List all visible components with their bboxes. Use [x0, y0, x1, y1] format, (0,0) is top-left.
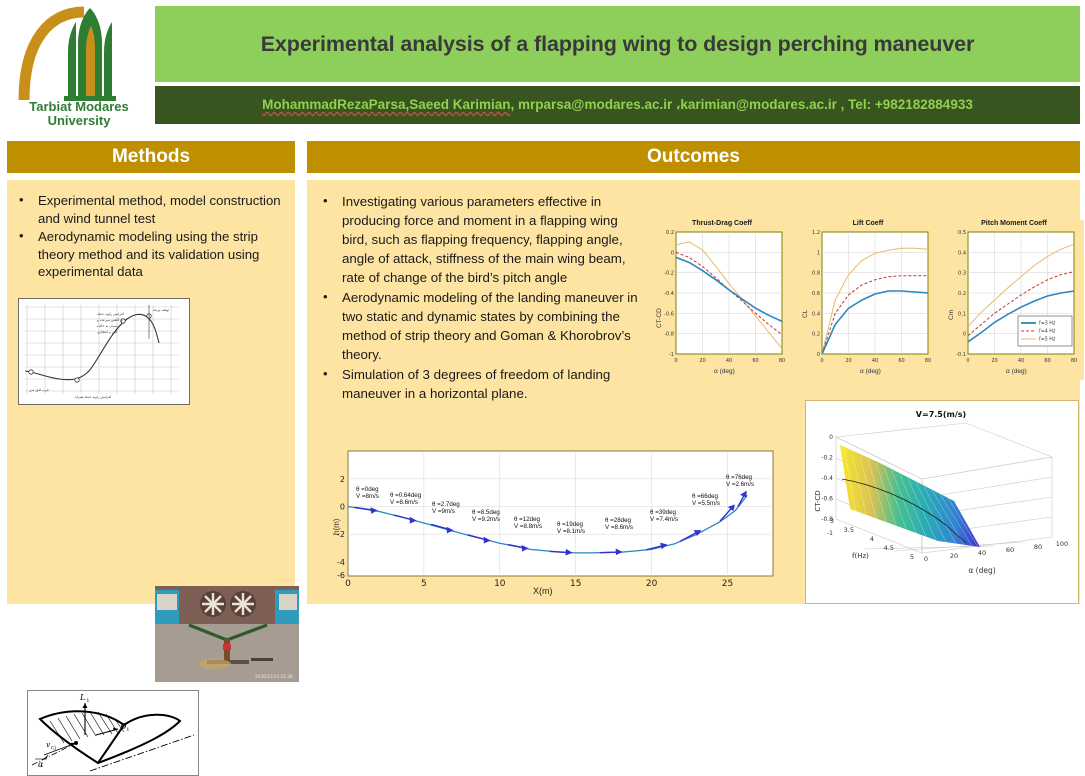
- svg-text:0: 0: [345, 579, 351, 589]
- svg-text:0: 0: [674, 358, 677, 364]
- svg-text:D: D: [119, 722, 127, 731]
- poster-title-bar: Experimental analysis of a flapping wing…: [155, 6, 1080, 82]
- annot-3-theta: θ =2.7deg: [432, 501, 460, 508]
- outcomes-bullet-3: Simulation of 3 degrees of freedom of la…: [319, 365, 639, 403]
- svg-text:60: 60: [1044, 358, 1050, 364]
- svg-text:0: 0: [966, 358, 969, 364]
- annot-2-v: V =8.6m/s: [390, 499, 421, 506]
- svg-text:3: 3: [830, 517, 834, 525]
- svg-text:α: α: [38, 760, 44, 769]
- svg-text:1: 1: [817, 250, 820, 256]
- chart-pitch-svg: 0.50.40.3 0.20.10 -0.1 02040 6080 f=3 Hz…: [944, 220, 1084, 380]
- svg-text:0: 0: [820, 358, 823, 364]
- svg-text:0.8: 0.8: [812, 271, 820, 277]
- trajectory-annotation-9: θ =66deg V =5.5m/s: [692, 493, 720, 508]
- trajectory-xlabel: X(m): [533, 586, 553, 596]
- strip-theory-svg: L i D i v r,j α: [28, 691, 196, 773]
- svg-text:r,j: r,j: [51, 745, 56, 751]
- svg-text:0.6: 0.6: [812, 291, 820, 297]
- chart-lift-xlabel: α (deg): [860, 368, 881, 375]
- svg-text:0.3: 0.3: [958, 271, 966, 277]
- section-header-methods: Methods: [7, 141, 295, 173]
- trajectory-annotation-5: θ =12deg V =8.8m/s: [514, 516, 542, 531]
- svg-text:40: 40: [978, 549, 986, 557]
- annot-8-v: V =7.4m/s: [650, 516, 678, 523]
- logo-text: Tarbiat Modares University: [6, 100, 152, 128]
- svg-text:-0.4: -0.4: [664, 291, 674, 297]
- svg-text:25: 25: [722, 579, 733, 589]
- svg-text:1.2: 1.2: [812, 230, 820, 236]
- trajectory-annotation-7: θ =28deg V =8.6m/s: [605, 517, 633, 532]
- authors-bar: MohammadRezaParsa,Saeed Karimian, mrpars…: [155, 86, 1080, 124]
- svg-text:-6: -6: [337, 571, 345, 580]
- svg-text:-0.4: -0.4: [821, 475, 833, 482]
- trajectory-annotation-6: θ =19deg V =8.1m/s: [557, 521, 585, 536]
- trajectory-svg: 20-2 -4-6 0510 152025: [328, 443, 783, 601]
- annot-6-v: V =8.1m/s: [557, 528, 585, 535]
- methods-heading-label: Methods: [112, 146, 190, 168]
- legend-item-f5: f=5 Hz: [1039, 337, 1056, 343]
- poster-root: Tarbiat Modares University Experimental …: [0, 0, 1085, 609]
- svg-text:توقف پرنده: توقف پرنده: [153, 308, 169, 312]
- svg-text:رسیدن به حالت: رسیدن به حالت: [97, 324, 120, 328]
- svg-text:-1: -1: [827, 530, 833, 537]
- trajectory-annotation-10: θ =76deg V =2.6m/s: [726, 474, 754, 489]
- section-header-outcomes: Outcomes: [307, 141, 1080, 173]
- wind-tunnel-photo-figure: 2020/11/15 15:38: [155, 586, 299, 682]
- annot-1-v: V =8m/s: [356, 493, 379, 500]
- methods-bullet-1: Experimental method, model construction …: [15, 192, 287, 227]
- surface-title: V=7.5(m/s): [916, 410, 966, 419]
- svg-text:-0.2: -0.2: [821, 455, 833, 462]
- outcomes-heading-label: Outcomes: [647, 146, 740, 168]
- svg-text:20: 20: [845, 358, 851, 364]
- strip-theory-diagram-figure: L i D i v r,j α: [27, 690, 199, 776]
- svg-text:60: 60: [898, 358, 904, 364]
- svg-text:0.4: 0.4: [958, 250, 966, 256]
- svg-text:0: 0: [671, 250, 674, 256]
- persian-annotated-graph-figure: قرب افق متن افزایش زاویه حمله و کاهش سرع…: [18, 298, 190, 405]
- svg-text:0.2: 0.2: [666, 230, 674, 236]
- svg-text:0.2: 0.2: [958, 291, 966, 297]
- svg-text:0: 0: [924, 555, 928, 563]
- chart-thrust-xlabel: α (deg): [714, 368, 735, 375]
- annot-7-v: V =8.6m/s: [605, 524, 633, 531]
- annot-1-theta: θ =0deg: [356, 486, 379, 493]
- svg-text:60: 60: [752, 358, 758, 364]
- trajectory-annotation-1: θ =0deg V =8m/s: [356, 486, 379, 501]
- svg-text:i: i: [127, 727, 129, 733]
- chart-thrust-drag-coeff: Thrust-Drag Coeff CT-CD α (deg) 0.20-0.2…: [652, 220, 792, 380]
- university-logo: Tarbiat Modares University: [6, 4, 152, 134]
- svg-text:کلی و انتظاری: کلی و انتظاری: [97, 330, 118, 334]
- svg-text:20: 20: [699, 358, 705, 364]
- chart-pitch-legend: f=3 Hz f=4 Hz f=5 Hz: [1018, 316, 1072, 346]
- svg-text:0.2: 0.2: [812, 332, 820, 338]
- persian-graph-svg: قرب افق متن افزایش زاویه حمله و کاهش سرع…: [19, 299, 187, 402]
- svg-text:قرب افق متن: قرب افق متن: [29, 388, 49, 392]
- svg-text:-0.8: -0.8: [664, 332, 674, 338]
- chart-lift-title: Lift Coeff: [798, 220, 938, 227]
- logo-line2: University: [6, 114, 152, 128]
- chart-lift-coeff: Lift Coeff CL α (deg) 1.210.8 0.60.40.2 …: [798, 220, 938, 380]
- svg-text:-0.6: -0.6: [664, 311, 674, 317]
- svg-text:0.5: 0.5: [958, 230, 966, 236]
- svg-text:0: 0: [829, 434, 833, 441]
- university-logo-icon: [6, 4, 152, 104]
- chart-thrust-title: Thrust-Drag Coeff: [652, 220, 792, 227]
- methods-bullet-2: Aerodynamic modeling using the strip the…: [15, 228, 287, 281]
- svg-text:4: 4: [870, 535, 874, 543]
- logo-line1: Tarbiat Modares: [6, 100, 152, 114]
- svg-text:5: 5: [421, 579, 427, 589]
- authors-contact: , mrparsa@modares.ac.ir ،karimian@modare…: [511, 97, 973, 112]
- svg-text:80: 80: [779, 358, 785, 364]
- annot-10-v: V =2.6m/s: [726, 481, 754, 488]
- svg-text:-0.2: -0.2: [664, 271, 674, 277]
- svg-text:15: 15: [570, 579, 581, 589]
- svg-text:0.4: 0.4: [812, 311, 820, 317]
- chart-lift-ylabel: CL: [802, 310, 809, 318]
- svg-text:2: 2: [340, 475, 345, 484]
- surface-ylabel: f(Hz): [852, 552, 869, 560]
- wind-tunnel-photo-svg: 2020/11/15 15:38: [155, 586, 299, 682]
- svg-text:افزایش زاویه حمله همراه: افزایش زاویه حمله همراه: [75, 395, 111, 399]
- svg-text:40: 40: [872, 358, 878, 364]
- authors-names: MohammadRezaParsa,Saeed Karimian: [262, 97, 510, 112]
- svg-text:-0.6: -0.6: [821, 496, 833, 503]
- svg-text:40: 40: [726, 358, 732, 364]
- chart-ct-cd-surface: V=7.5(m/s): [805, 400, 1079, 604]
- trajectory-ylabel: h(m): [332, 519, 341, 535]
- chart-thrust-ylabel: CT-CD: [656, 308, 663, 328]
- svg-text:-0.1: -0.1: [956, 352, 966, 358]
- legend-item-f4: f=4 Hz: [1039, 329, 1056, 335]
- outcomes-bullet-list: Investigating various parameters effecti…: [319, 192, 639, 404]
- annot-4-v: V =9.2m/s: [472, 516, 500, 523]
- svg-text:80: 80: [1034, 543, 1042, 551]
- chart-landing-trajectory: h(m) X(m) 20-2 -4-6 0510 152025: [328, 443, 783, 601]
- chart-thrust-svg: 0.20-0.2 -0.4-0.6-0.8 -1 02040 6080: [652, 220, 792, 380]
- svg-text:100: 100: [1056, 540, 1068, 548]
- trajectory-annotation-4: θ =8.5deg V =9.2m/s: [472, 509, 500, 524]
- svg-text:10: 10: [494, 579, 506, 589]
- methods-panel: Experimental method, model construction …: [7, 180, 295, 604]
- surface-xlabel: α (deg): [968, 566, 995, 575]
- trajectory-annotation-3: θ =2.7deg V =9m/s: [432, 501, 460, 516]
- chart-pitch-moment-coeff: Pitch Moment Coeff Cm α (deg) 0.50.40.3 …: [944, 220, 1084, 380]
- svg-text:i: i: [87, 698, 89, 704]
- svg-text:-1: -1: [669, 352, 674, 358]
- methods-bullet-list: Experimental method, model construction …: [15, 192, 287, 282]
- surface-svg: V=7.5(m/s): [806, 401, 1076, 601]
- svg-text:-4: -4: [337, 558, 345, 567]
- poster-title: Experimental analysis of a flapping wing…: [261, 32, 975, 57]
- svg-text:20: 20: [950, 552, 958, 560]
- svg-text:60: 60: [1006, 546, 1014, 554]
- svg-text:5: 5: [910, 553, 914, 561]
- svg-text:L: L: [79, 693, 85, 702]
- annot-3-v: V =9m/s: [432, 508, 460, 515]
- svg-text:0.1: 0.1: [958, 311, 966, 317]
- legend-item-f3: f=3 Hz: [1039, 321, 1056, 327]
- svg-text:40: 40: [1018, 358, 1024, 364]
- outcomes-bullet-2: Aerodynamic modeling of the landing mane…: [319, 288, 639, 364]
- svg-text:0: 0: [340, 503, 345, 512]
- svg-text:و کاهش سرعت و: و کاهش سرعت و: [96, 318, 123, 322]
- annot-6-theta: θ =19deg: [557, 521, 585, 528]
- svg-text:80: 80: [1071, 358, 1077, 364]
- annot-8-theta: θ =39deg: [650, 509, 678, 516]
- chart-pitch-xlabel: α (deg): [1006, 368, 1027, 375]
- chart-pitch-title: Pitch Moment Coeff: [944, 220, 1084, 227]
- trajectory-annotation-8: θ =39deg V =7.4m/s: [650, 509, 678, 524]
- surface-zlabel: CT-CD: [814, 490, 822, 511]
- svg-text:2020/11/15 15:38: 2020/11/15 15:38: [255, 674, 293, 679]
- svg-text:افزایش زاویه حمله: افزایش زاویه حمله: [97, 312, 124, 316]
- authors-line: MohammadRezaParsa,Saeed Karimian, mrpars…: [262, 97, 973, 113]
- svg-text:20: 20: [991, 358, 997, 364]
- svg-text:3.5: 3.5: [844, 526, 854, 534]
- annot-9-theta: θ =66deg: [692, 493, 720, 500]
- svg-text:20: 20: [646, 579, 658, 589]
- annot-9-v: V =5.5m/s: [692, 500, 720, 507]
- annot-5-theta: θ =12deg: [514, 516, 542, 523]
- chart-pitch-ylabel: Cm: [948, 310, 955, 320]
- svg-text:0: 0: [963, 332, 966, 338]
- svg-text:80: 80: [925, 358, 931, 364]
- annot-2-theta: θ =0.64deg: [390, 492, 421, 499]
- trajectory-annotation-2: θ =0.64deg V =8.6m/s: [390, 492, 421, 507]
- chart-lift-svg: 1.210.8 0.60.40.2 0 02040 6080: [798, 220, 938, 380]
- outcomes-bullet-1: Investigating various parameters effecti…: [319, 192, 639, 287]
- annot-10-theta: θ =76deg: [726, 474, 754, 481]
- svg-text:4.5: 4.5: [884, 544, 894, 552]
- annot-4-theta: θ =8.5deg: [472, 509, 500, 516]
- annot-7-theta: θ =28deg: [605, 517, 633, 524]
- annot-5-v: V =8.8m/s: [514, 523, 542, 530]
